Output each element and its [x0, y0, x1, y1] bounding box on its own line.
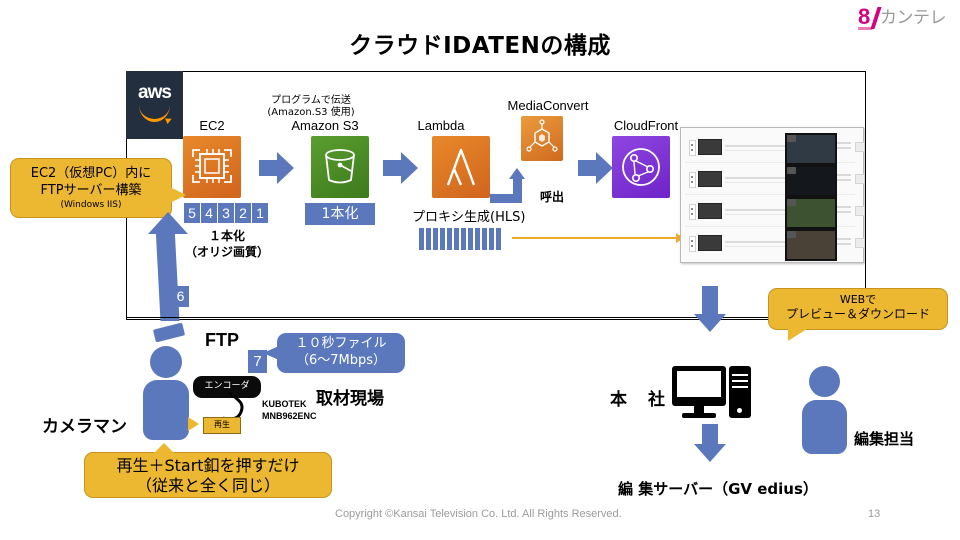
frame-bottom-edge: [126, 317, 864, 318]
drag-handle-icon[interactable]: [689, 172, 696, 188]
preview-row[interactable]: [685, 132, 855, 163]
row-thumbnail: [698, 171, 722, 187]
callout-web-preview: WEBで プレビュー＆ダウンロード: [768, 288, 948, 330]
callout-start-line2: （従来と全く同じ）: [85, 476, 331, 496]
arrow-cloudfront-to-office: [694, 286, 726, 334]
drag-handle-icon[interactable]: [689, 236, 696, 252]
callout-ec2-ftp-line3: (Windows IIS): [11, 199, 171, 211]
editor-head: [809, 366, 840, 397]
s3-badge: 1本化: [305, 203, 375, 225]
s3-bucket-glyph: [311, 136, 369, 198]
cameraman-head: [150, 346, 182, 378]
cloudfront-icon: [612, 136, 670, 198]
arrow-lambda-to-cloudfront: [578, 152, 612, 184]
row-thumbnail: [698, 203, 722, 219]
mediaconvert-icon: [521, 116, 563, 161]
segment-2: 2: [234, 202, 252, 224]
ec2-chip-glyph: [183, 136, 241, 198]
callout-start-tail: [152, 443, 176, 455]
camera-icon: [153, 323, 185, 343]
row-action-button[interactable]: [855, 206, 865, 216]
web-preview-panel[interactable]: [680, 127, 864, 263]
editor-label: 編集担当: [854, 428, 914, 449]
aws-logo-text: aws: [126, 82, 183, 104]
callout-ten-sec-line2: （6〜7Mbps）: [277, 353, 405, 369]
aws-logo: aws: [126, 71, 183, 139]
play-icon[interactable]: [787, 135, 796, 142]
kantele-logo: 8 カンテレ: [858, 6, 954, 32]
node-label-lambda: Lambda: [405, 118, 477, 133]
row-action-button[interactable]: [855, 142, 865, 152]
hls-segments-icon: [419, 228, 509, 250]
editor-figure: [800, 366, 852, 454]
segment-3: 3: [217, 202, 235, 224]
callout-ec2-ftp-line2: FTPサーバー構築: [11, 182, 171, 199]
headquarters-label: 本 社: [610, 385, 667, 410]
row-meta-line1: [837, 238, 851, 240]
row-meta-line1: [837, 206, 851, 208]
callout-ec2-ftp-tail: [168, 186, 186, 204]
cloudfront-globe-glyph: [612, 136, 670, 198]
desktop-monitor-icon: [672, 366, 728, 420]
cameraman-label: カメラマン: [42, 412, 127, 437]
play-icon[interactable]: [787, 231, 796, 238]
ec2-under-line2: （オリジ画質）: [168, 244, 286, 260]
transfer-note: プログラムで伝送 (Amazon.S3 使用): [236, 95, 386, 119]
cameraman-body: [143, 380, 189, 440]
row-meta-line2: [837, 179, 851, 181]
node-label-ec2: EC2: [182, 118, 242, 133]
row-meta-line1: [837, 142, 851, 144]
row-action-button[interactable]: [855, 174, 865, 184]
node-label-mediaconvert: MediaConvert: [500, 98, 596, 113]
proxy-to-preview-connector: [512, 237, 678, 239]
transfer-note-line1: プログラムで伝送: [236, 95, 386, 107]
step-6-badge: 6: [172, 286, 189, 307]
editor-body: [802, 400, 847, 454]
node-label-cloudfront: CloudFront: [603, 118, 689, 133]
callout-ten-sec-line1: １０秒ファイル: [277, 335, 405, 353]
logo-mark-8: 8: [858, 6, 870, 28]
play-triangle-icon: [188, 417, 199, 431]
proxy-label: プロキシ生成(HLS): [412, 206, 525, 225]
aws-smile-icon: [139, 105, 170, 122]
mediaconvert-glyph: [521, 116, 563, 161]
invoke-label: 呼出: [540, 188, 564, 205]
arrow-invoke-mediaconvert: [490, 168, 536, 202]
callout-start-line1: 再生＋Start釦を押すだけ: [85, 455, 331, 476]
play-button-box[interactable]: 再生: [203, 417, 241, 434]
pc-tower-icon: [729, 366, 751, 418]
encoder-model-line2: MNB962ENC: [262, 410, 332, 422]
edit-server-label: 編 集サーバー（GV edius）: [618, 478, 818, 499]
callout-ten-sec-file: １０秒ファイル （6〜7Mbps）: [277, 333, 405, 373]
callout-start-button: 再生＋Start釦を押すだけ （従来と全く同じ）: [84, 452, 332, 498]
s3-bucket-icon: [311, 136, 369, 198]
row-meta-line2: [837, 147, 851, 149]
preview-row[interactable]: [685, 164, 855, 195]
play-icon[interactable]: [787, 199, 796, 206]
arrow-ec2-to-s3: [259, 152, 293, 184]
drag-handle-icon[interactable]: [689, 204, 696, 220]
encoder-model: KUBOTEK MNB962ENC: [262, 398, 332, 430]
row-meta-line2: [837, 211, 851, 213]
row-thumbnail: [698, 235, 722, 251]
lambda-icon: [432, 136, 490, 198]
lambda-glyph: [432, 136, 490, 198]
row-thumbnail: [698, 139, 722, 155]
callout-ec2-ftp-line1: EC2（仮想PC）内に: [11, 165, 171, 182]
arrow-office-to-edit-server: [694, 424, 726, 464]
row-meta-line1: [837, 174, 851, 176]
arrow-s3-to-lambda: [383, 152, 417, 184]
callout-web-preview-line2: プレビュー＆ダウンロード: [769, 307, 947, 322]
callout-ten-sec-tail: [263, 346, 279, 360]
row-action-button[interactable]: [855, 238, 865, 248]
slide-canvas: クラウドIDATENの構成 8 カンテレ aws プログラムで伝送 (Amazo…: [0, 0, 960, 540]
callout-web-preview-line1: WEBで: [769, 292, 947, 307]
preview-row[interactable]: [685, 196, 855, 227]
segment-4: 4: [200, 202, 218, 224]
ec2-segment-bar: 5 4 3 2 1: [183, 202, 271, 224]
encoder-model-line1: KUBOTEK: [262, 398, 332, 410]
preview-row[interactable]: [685, 228, 855, 258]
segment-1: 1: [251, 202, 269, 224]
callout-web-preview-tail: [788, 327, 810, 341]
play-icon[interactable]: [787, 167, 796, 174]
drag-handle-icon[interactable]: [689, 140, 696, 156]
logo-name: カンテレ: [880, 8, 946, 28]
page-number: 13: [868, 508, 880, 520]
node-label-amazon-s3: Amazon S3: [281, 118, 369, 133]
footer-copyright: Copyright ©Kansai Television Co. Ltd. Al…: [335, 508, 622, 520]
page-title: クラウドIDATENの構成: [0, 26, 960, 60]
callout-ec2-ftp: EC2（仮想PC）内に FTPサーバー構築 (Windows IIS): [10, 158, 172, 218]
row-meta-line2: [837, 243, 851, 245]
ec2-icon: [183, 136, 241, 198]
ftp-label: FTP: [205, 330, 239, 351]
